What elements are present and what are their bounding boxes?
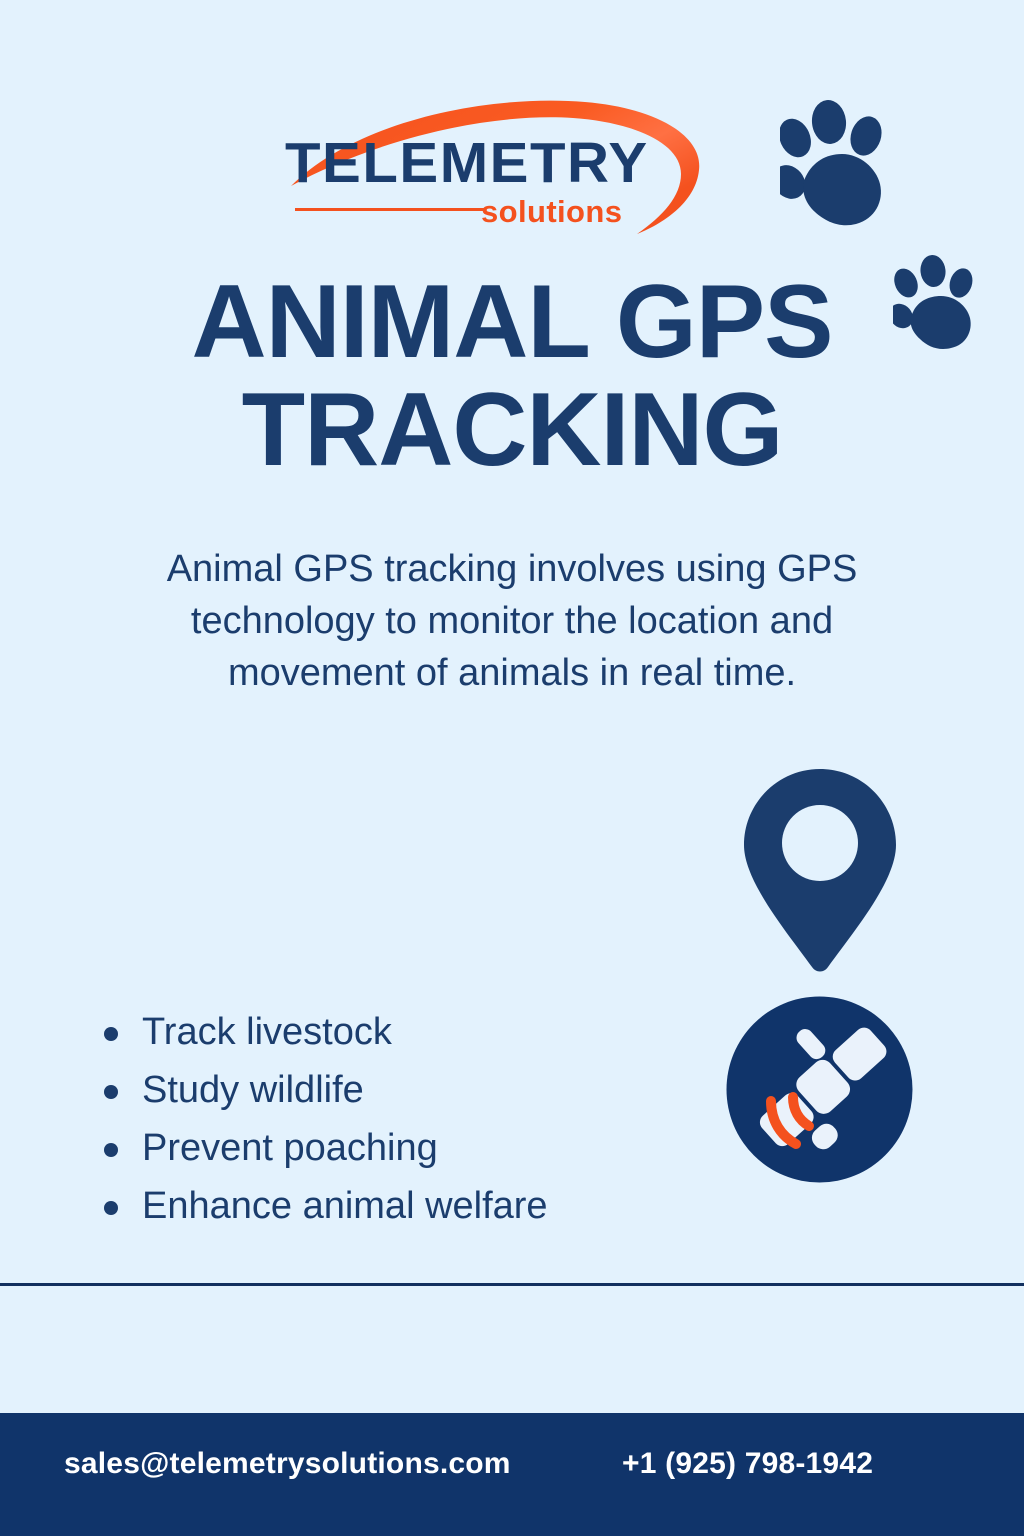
bullet-dot-icon (104, 1027, 118, 1041)
list-item-label: Study wildlife (142, 1069, 364, 1111)
list-item-label: Track livestock (142, 1011, 392, 1053)
list-item: Enhance animal welfare (100, 1184, 660, 1228)
brand-logo: TELEMETRY solutions (285, 96, 705, 236)
page-title: ANIMAL GPS TRACKING (0, 268, 1024, 484)
list-item: Track livestock (100, 1010, 660, 1054)
brand-tagline: solutions (481, 196, 622, 228)
brand-wordmark: TELEMETRY (285, 134, 673, 192)
list-item: Prevent poaching (100, 1126, 660, 1170)
list-item: Study wildlife (100, 1068, 660, 1112)
list-item-label: Prevent poaching (142, 1127, 438, 1169)
bullet-dot-icon (104, 1201, 118, 1215)
bullet-dot-icon (104, 1143, 118, 1157)
list-item-label: Enhance animal welfare (142, 1185, 548, 1227)
poster-canvas: TELEMETRY solutions ANIMAL GPS TRACKING … (0, 0, 1024, 1536)
benefits-list: Track livestock Study wildlife Prevent p… (100, 1010, 660, 1242)
page-title-line-2: TRACKING (0, 376, 1024, 484)
brand-underline (295, 208, 485, 211)
bullet-dot-icon (104, 1085, 118, 1099)
section-divider (0, 1283, 1024, 1286)
intro-paragraph: Animal GPS tracking involves using GPS t… (112, 543, 912, 699)
satellite-icon (723, 993, 916, 1186)
map-pin-icon (740, 765, 900, 975)
footer-email-link[interactable]: sales@telemetrysolutions.com (64, 1446, 511, 1482)
paw-print-icon (780, 100, 910, 230)
page-title-line-1: ANIMAL GPS (0, 268, 1024, 376)
footer-phone-link[interactable]: +1 (925) 798-1942 (622, 1446, 873, 1482)
contact-footer: sales@telemetrysolutions.com +1 (925) 79… (0, 1413, 1024, 1536)
